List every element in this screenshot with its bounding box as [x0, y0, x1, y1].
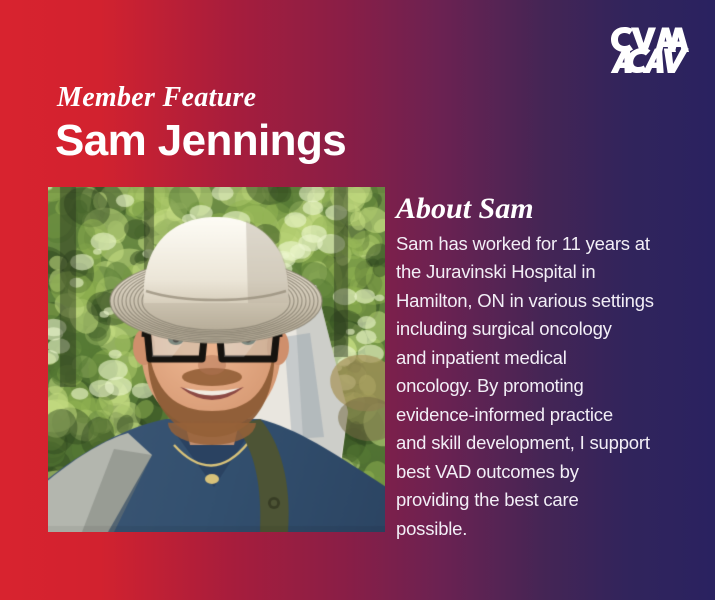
about-body-line: and inpatient medical [396, 344, 696, 373]
about-body-line: Sam has worked for 11 years at [396, 230, 696, 259]
about-body-line: oncology. By promoting [396, 372, 696, 401]
eyebrow-member-feature: Member Feature [57, 84, 256, 112]
about-body: Sam has worked for 11 years atthe Juravi… [396, 230, 696, 544]
cvaa-aciv-logo-icon [609, 24, 689, 76]
about-body-line: Hamilton, ON in various settings [396, 287, 696, 316]
about-section: About Sam Sam has worked for 11 years at… [396, 192, 696, 543]
about-body-line: and skill development, I support [396, 429, 696, 458]
about-body-line: possible. [396, 515, 696, 544]
about-heading: About Sam [396, 192, 696, 226]
about-body-line: including surgical oncology [396, 315, 696, 344]
about-body-line: providing the best care [396, 486, 696, 515]
member-photo-canvas [48, 187, 385, 532]
about-body-line: evidence-informed practice [396, 401, 696, 430]
about-body-line: best VAD outcomes by [396, 458, 696, 487]
page-title-member-name: Sam Jennings [55, 118, 346, 164]
about-body-line: the Juravinski Hospital in [396, 258, 696, 287]
member-photo [48, 187, 385, 532]
member-feature-poster: Member Feature Sam Jennings About Sam Sa… [0, 0, 715, 600]
